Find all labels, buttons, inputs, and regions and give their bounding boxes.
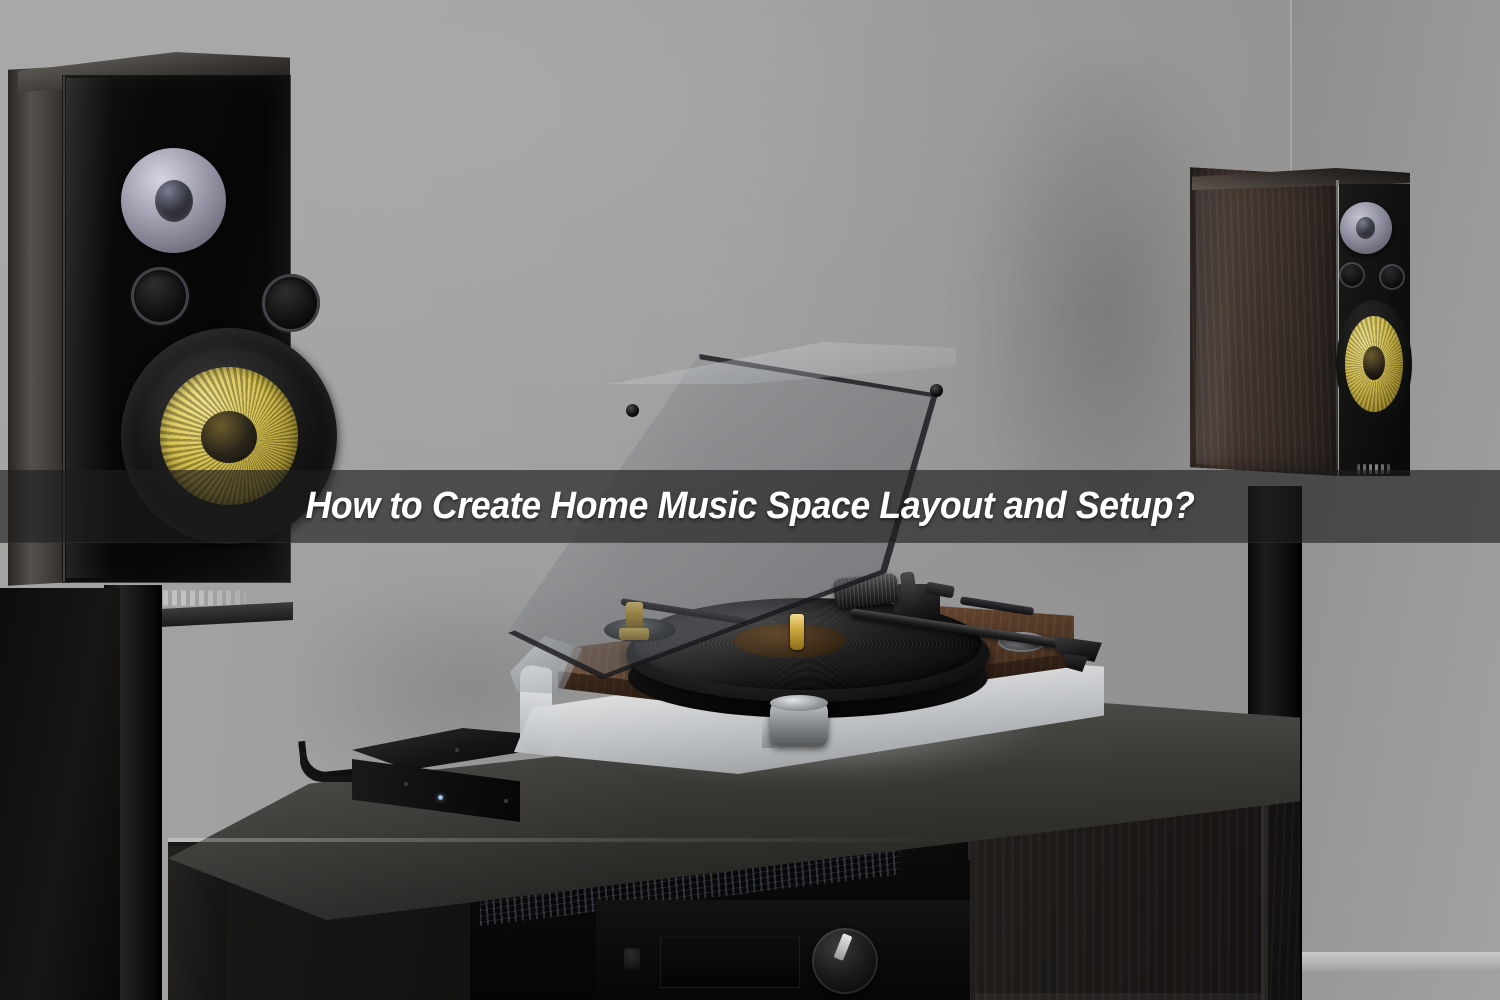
speaker-left-port-upper-left <box>131 267 189 325</box>
speaker-right-tweeter-dome <box>1356 217 1375 239</box>
banner-image: How to Create Home Music Space Layout an… <box>0 0 1500 1000</box>
speaker-right-side-highlight <box>1196 182 1236 466</box>
turntable-spindle <box>790 614 804 650</box>
baseboard <box>1292 952 1500 972</box>
cabinet-top-front-edge <box>168 838 968 842</box>
speaker-right-baffle <box>1339 184 1410 476</box>
phono-box-power-led <box>438 795 443 800</box>
banner-title: How to Create Home Music Space Layout an… <box>45 470 1455 543</box>
dust-cover-hinge-pin-right <box>930 384 943 397</box>
amplifier-display <box>660 936 800 988</box>
phono-box-cable-inner <box>300 752 358 782</box>
speaker-left-tweeter-dome <box>155 180 193 222</box>
turntable <box>498 336 1118 806</box>
left-cabinet-block <box>0 588 120 1000</box>
speaker-right <box>1190 168 1410 483</box>
speaker-left-woofer-dustcap <box>201 411 257 463</box>
speaker-left-port-upper-right <box>262 274 320 332</box>
amplifier-volume-knob[interactable] <box>812 928 878 994</box>
amplifier-button[interactable] <box>624 948 640 970</box>
speaker-right-port-left <box>1339 262 1365 288</box>
speaker-right-port-right <box>1379 264 1405 290</box>
phono-box-screw-3 <box>455 748 459 752</box>
dust-cover-top-lid <box>606 342 956 384</box>
phono-box-screw-1 <box>404 782 408 786</box>
turntable-speed-knob[interactable] <box>770 702 828 746</box>
speaker-right-woofer-dustcap <box>1363 346 1385 380</box>
dust-cover-hinge-pin-left <box>626 404 639 417</box>
